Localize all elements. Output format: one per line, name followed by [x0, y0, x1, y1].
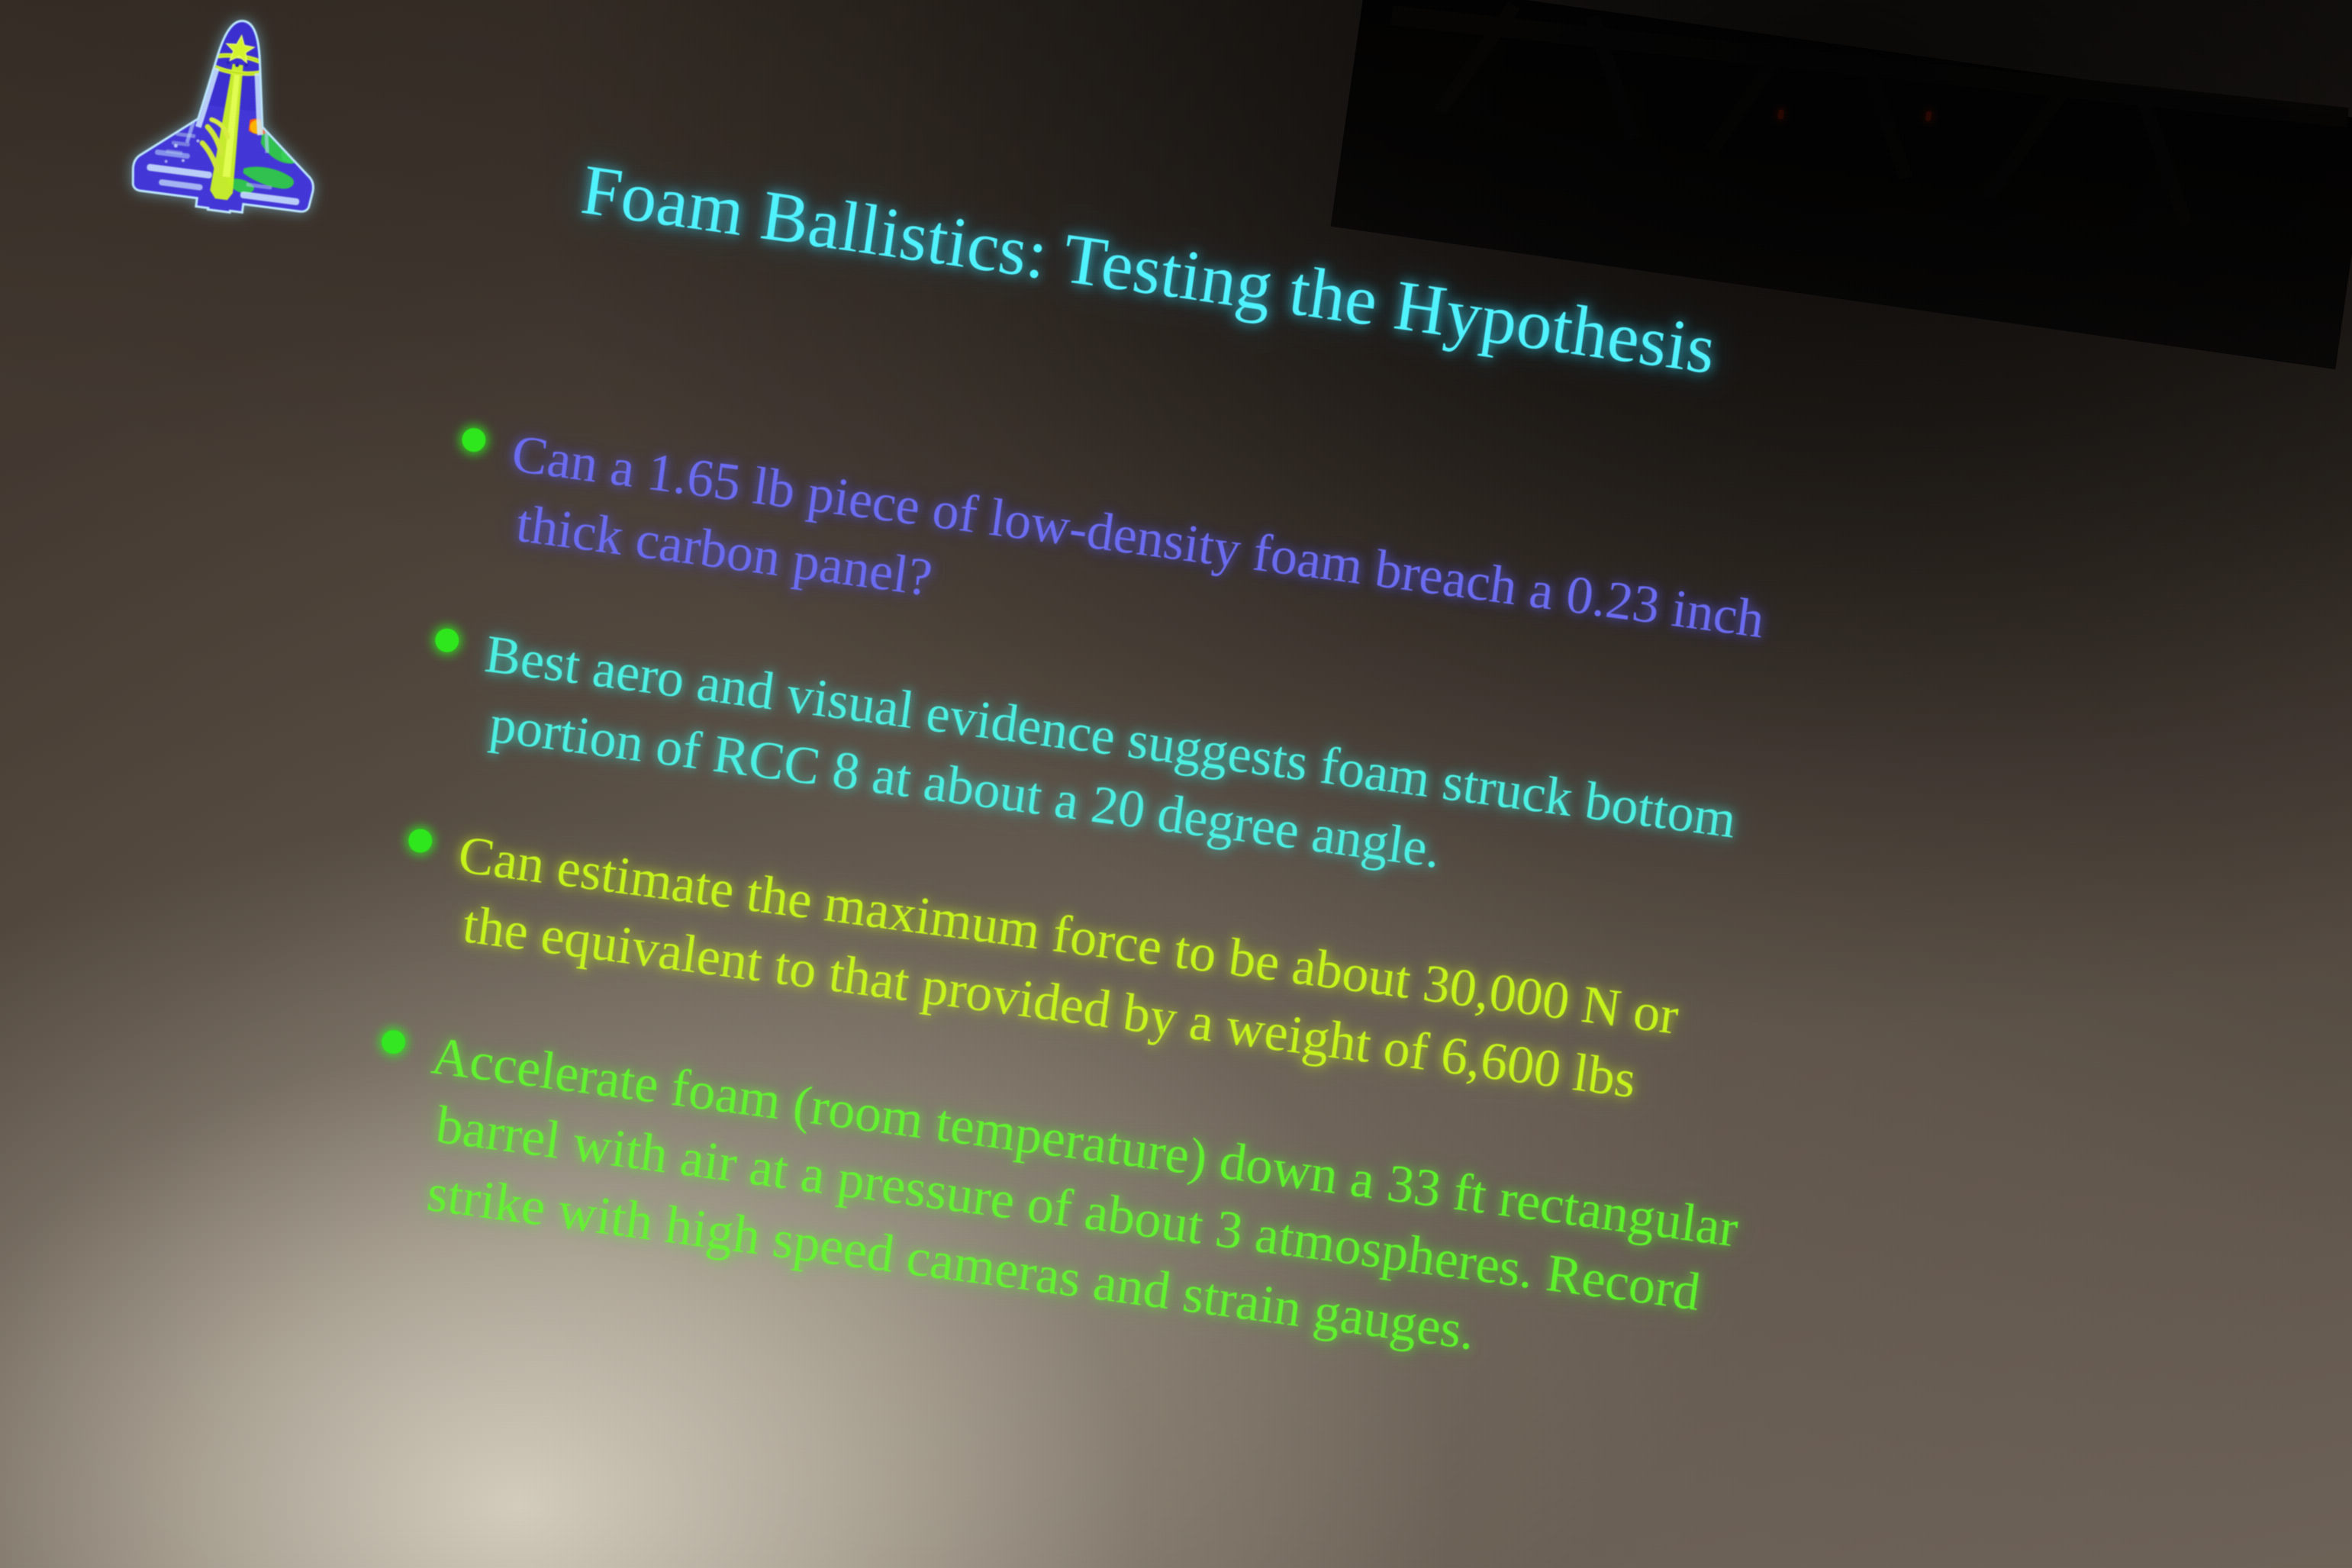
bullet-marker-icon [380, 1029, 407, 1055]
slide-content: Foam Ballistics: Testing the Hypothesis … [0, 0, 2352, 1568]
mission-patch [124, 5, 338, 227]
bullet-marker-icon [407, 828, 433, 855]
bullet-marker-icon [460, 427, 487, 453]
slide-title: Foam Ballistics: Testing the Hypothesis [577, 153, 2023, 430]
bullet-list: Can a 1.65 lb piece of low-density foam … [342, 412, 2334, 1532]
projected-slide-photo: Foam Ballistics: Testing the Hypothesis … [0, 0, 2352, 1568]
bullet-marker-icon [433, 627, 460, 654]
